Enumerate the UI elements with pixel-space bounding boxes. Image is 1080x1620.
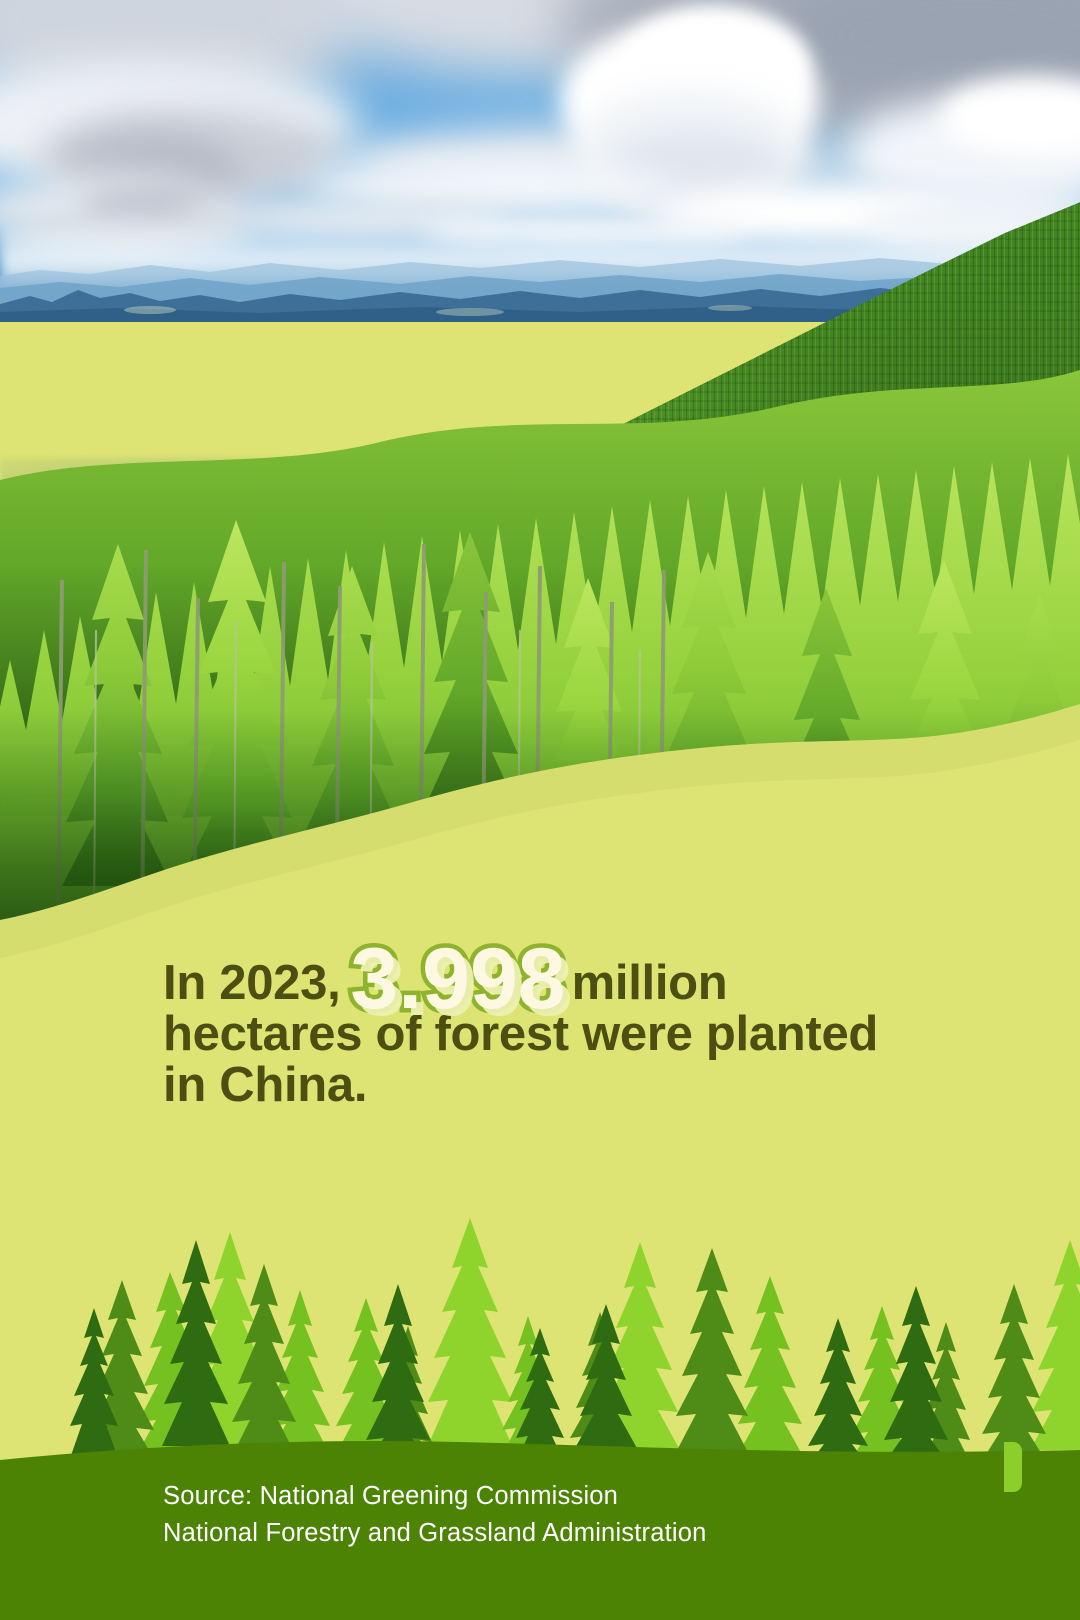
headline-prefix: In 2023, xyxy=(163,956,340,1010)
pine-tree-silhouette-band xyxy=(0,1210,1080,1472)
source-line-2: National Forestry and Grassland Administ… xyxy=(163,1515,707,1552)
headline-statistic: In 2023,3.998million hectares of forest … xyxy=(163,958,963,1111)
infographic-poster: In 2023,3.998million hectares of forest … xyxy=(0,0,1080,1620)
headline-suffix: million xyxy=(572,956,728,1010)
headline-line-1: In 2023,3.998million xyxy=(163,958,963,1009)
china-daily-logo[interactable]: CHINA DAILY xyxy=(936,1414,1022,1492)
source-attribution: Source: National Greening Commission Nat… xyxy=(163,1478,707,1552)
headline-line-3: in China. xyxy=(163,1060,963,1111)
source-line-1: Source: National Greening Commission xyxy=(163,1478,707,1515)
